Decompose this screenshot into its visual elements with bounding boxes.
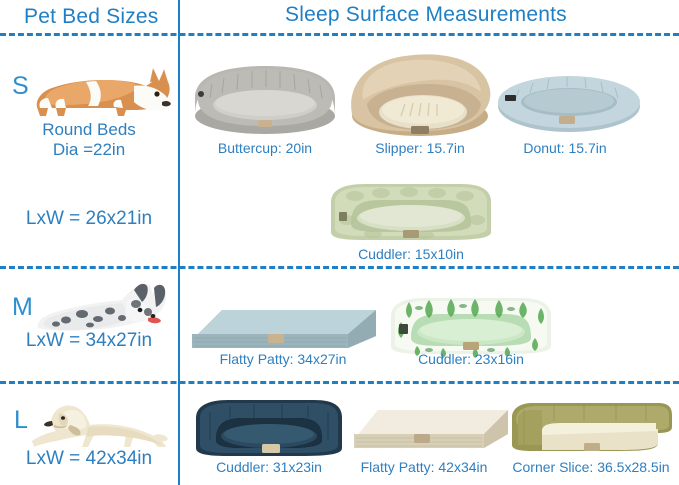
page-title-right: Sleep Surface Measurements <box>285 3 567 27</box>
round-beds-label: Round Beds Dia =22in <box>0 120 178 160</box>
round-beds-line2: Dia =22in <box>53 140 125 159</box>
buttercup-bed <box>190 58 340 136</box>
labrador-dog <box>30 395 170 455</box>
cuddler-bed-navy-caption: Cuddler: 31x23in <box>216 459 322 475</box>
corner-slice-bed <box>508 395 674 457</box>
donut-bed <box>495 62 643 134</box>
slipper-bed-caption: Slipper: 15.7in <box>375 140 465 156</box>
vertical-divider <box>178 0 180 485</box>
flatty-patty-bed-cream-caption: Flatty Patty: 42x34in <box>361 459 488 475</box>
cuddler-bed-palm-print-caption: Cuddler: 23x16in <box>418 351 524 367</box>
page-title-left: Pet Bed Sizes <box>24 5 159 29</box>
cuddler-bed-navy <box>190 392 348 460</box>
small-lxw-label: LxW = 26x21in <box>0 208 178 230</box>
cuddler-bed-palm-print <box>385 288 557 360</box>
corgi-dog <box>26 58 172 120</box>
flatty-patty-bed-blue <box>190 300 380 358</box>
cuddler-bed-sage <box>325 172 497 244</box>
buttercup-bed-caption: Buttercup: 20in <box>218 140 312 156</box>
cuddler-bed-sage-caption: Cuddler: 15x10in <box>358 246 464 262</box>
medium-lxw-label: LxW = 34x27in <box>0 330 178 352</box>
slipper-bed <box>345 50 495 138</box>
flatty-patty-bed-cream <box>352 400 512 458</box>
flatty-patty-bed-blue-caption: Flatty Patty: 34x27in <box>220 351 347 367</box>
size-letter-large: L <box>14 406 28 435</box>
large-lxw-label: LxW = 42x34in <box>0 448 178 470</box>
pet-bed-size-chart: Pet Bed Sizes Sleep Surface Measurements… <box>0 0 679 485</box>
row-divider-medium-large <box>0 381 679 384</box>
corner-slice-bed-caption: Corner Slice: 36.5x28.5in <box>512 459 669 475</box>
donut-bed-caption: Donut: 15.7in <box>523 140 606 156</box>
round-beds-line1: Round Beds <box>42 120 136 139</box>
header-divider <box>0 33 679 36</box>
row-divider-small-medium <box>0 266 679 269</box>
